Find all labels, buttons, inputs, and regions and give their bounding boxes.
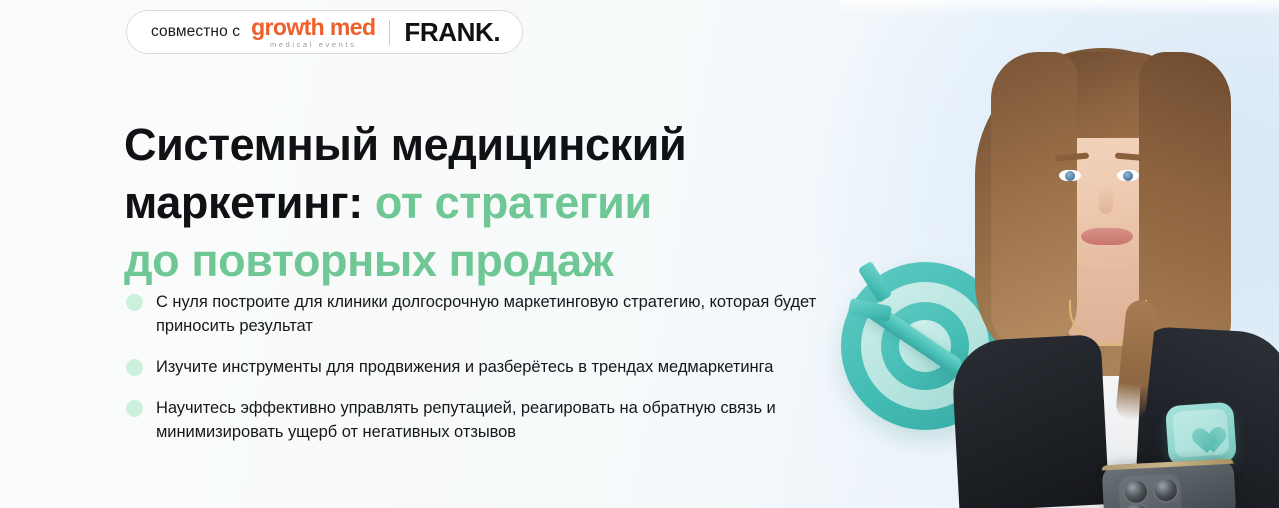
hero-illustration <box>839 0 1279 508</box>
smartphone-icon <box>1102 459 1237 508</box>
list-item-label: С нуля построите для клиники долгосрочну… <box>156 290 866 338</box>
heart-shape <box>1185 417 1217 446</box>
eye-right <box>1117 170 1139 181</box>
badge-prefix-label: совместно с <box>151 23 240 41</box>
heading-line-2-accent: от стратегии <box>375 177 652 228</box>
growthmed-logo-tagline: medical events <box>270 41 356 49</box>
heading-line-3-accent: до повторных продаж <box>124 235 613 286</box>
page-title: Системный медицинский маркетинг: от стра… <box>124 116 824 290</box>
camera-lens <box>1124 502 1151 508</box>
bullet-dot-icon <box>126 294 143 311</box>
growthmed-logo-main: growth med <box>251 16 375 39</box>
bullet-dot-icon <box>126 359 143 376</box>
growthmed-logo: growth med medical events <box>251 15 375 49</box>
list-item: С нуля построите для клиники долгосрочну… <box>126 290 866 338</box>
iris-right <box>1123 171 1133 181</box>
hero-banner: совместно с growth med medical events FR… <box>0 0 1279 508</box>
camera-lens <box>1122 478 1149 505</box>
list-item-label: Научитесь эффективно управлять репутацие… <box>156 396 866 444</box>
frank-logo: FRANK. <box>404 19 500 45</box>
list-item-label: Изучите инструменты для продвижения и ра… <box>156 355 773 379</box>
benefits-list: С нуля построите для клиники долгосрочну… <box>126 290 866 444</box>
logo-divider <box>389 20 390 45</box>
list-item: Изучите инструменты для продвижения и ра… <box>126 355 866 379</box>
eye-left <box>1059 170 1081 181</box>
list-item: Научитесь эффективно управлять репутацие… <box>126 396 866 444</box>
heading-line-2-dark: маркетинг: <box>124 177 363 228</box>
heading-line-1: Системный медицинский <box>124 119 686 170</box>
nose <box>1099 186 1113 214</box>
black-jacket-left <box>951 334 1110 508</box>
heart-like-icon <box>1165 402 1237 467</box>
bullet-dot-icon <box>126 400 143 417</box>
camera-lens <box>1152 476 1179 503</box>
iris-left <box>1065 171 1075 181</box>
smiling-mouth <box>1081 228 1133 245</box>
hair-front-left <box>991 52 1077 352</box>
partner-badge: совместно с growth med medical events FR… <box>126 10 523 54</box>
woman-portrait-photo <box>953 0 1279 508</box>
phone-camera-module <box>1118 473 1182 508</box>
